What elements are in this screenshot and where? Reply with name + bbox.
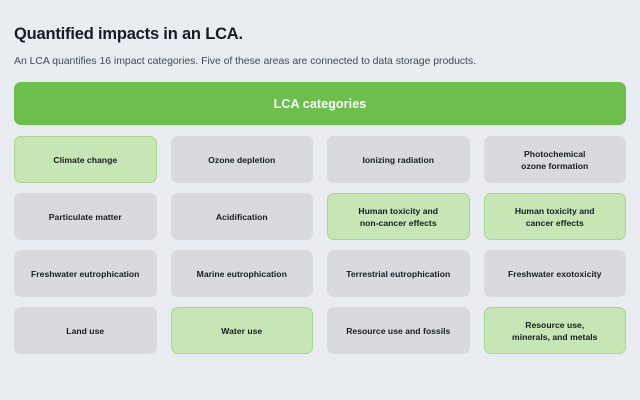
category-cell-label: Human toxicity and non-cancer effects [358,205,438,229]
category-cell[interactable]: Climate change [14,136,157,183]
category-cell[interactable]: Resource use and fossils [327,307,470,354]
category-cell[interactable]: Marine eutrophication [171,250,314,297]
category-cell-label: Climate change [53,154,117,166]
category-cell-label: Acidification [216,211,268,223]
banner-label: LCA categories [274,97,367,111]
page-title: Quantified impacts in an LCA. [14,0,626,44]
category-cell[interactable]: Ionizing radiation [327,136,470,183]
category-cell-label: Photochemical ozone formation [521,148,588,172]
category-cell-label: Freshwater eutrophication [31,268,139,280]
category-cell-label: Resource use, minerals, and metals [512,319,597,343]
category-cell[interactable]: Freshwater exotoxicity [484,250,627,297]
category-cell[interactable]: Land use [14,307,157,354]
category-cell-label: Ionizing radiation [363,154,435,166]
category-cell[interactable]: Terrestrial eutrophication [327,250,470,297]
category-cell[interactable]: Water use [171,307,314,354]
category-cell[interactable]: Particulate matter [14,193,157,240]
page-subtitle: An LCA quantifies 16 impact categories. … [14,44,626,68]
category-cell-label: Freshwater exotoxicity [508,268,602,280]
category-cell-label: Marine eutrophication [197,268,287,280]
category-cell[interactable]: Acidification [171,193,314,240]
category-cell[interactable]: Human toxicity and non-cancer effects [327,193,470,240]
category-cell-label: Terrestrial eutrophication [346,268,450,280]
category-cell-label: Water use [221,325,262,337]
category-cell[interactable]: Photochemical ozone formation [484,136,627,183]
category-cell[interactable]: Ozone depletion [171,136,314,183]
category-cell-label: Ozone depletion [208,154,275,166]
lca-categories-banner: LCA categories [14,82,626,125]
lca-categories-page: Quantified impacts in an LCA. An LCA qua… [0,0,640,400]
category-cell-label: Land use [66,325,104,337]
category-grid: Climate changeOzone depletionIonizing ra… [14,136,626,354]
category-cell-label: Particulate matter [49,211,122,223]
category-cell[interactable]: Human toxicity and cancer effects [484,193,627,240]
category-cell-label: Resource use and fossils [346,325,450,337]
category-cell[interactable]: Freshwater eutrophication [14,250,157,297]
category-cell[interactable]: Resource use, minerals, and metals [484,307,627,354]
category-cell-label: Human toxicity and cancer effects [515,205,595,229]
